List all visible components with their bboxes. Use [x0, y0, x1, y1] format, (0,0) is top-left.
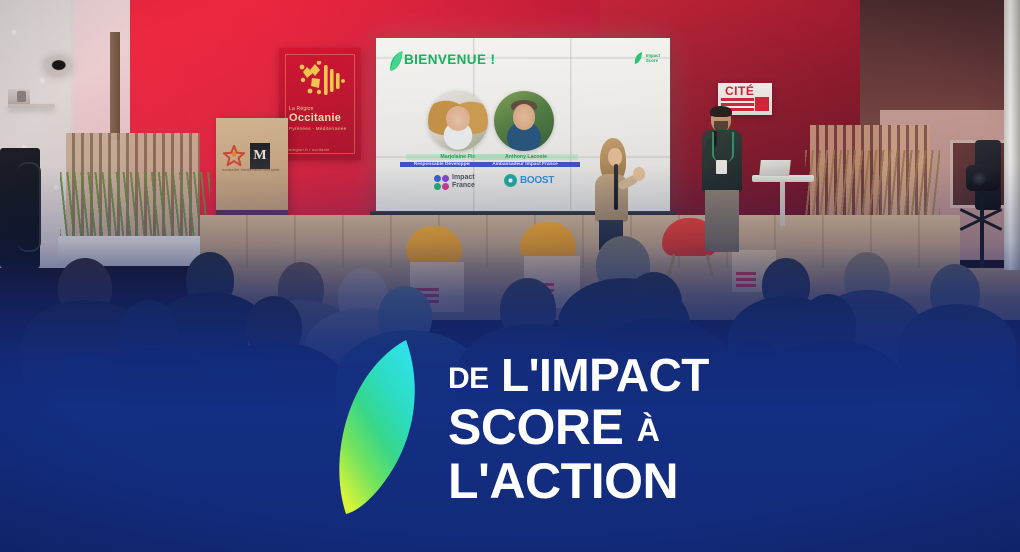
- brand-leaf-logo: [330, 338, 438, 516]
- page-title: DE L'IMPACT SCORE À L'ACTION: [448, 352, 968, 506]
- title-line-2-small: À: [637, 412, 660, 448]
- leaf-icon: [330, 338, 438, 516]
- title-line-2: SCORE À: [448, 402, 968, 452]
- title-line-1-large: L'IMPACT: [501, 349, 709, 401]
- audience-shoulders: [152, 396, 332, 552]
- title-lockup: DE L'IMPACT SCORE À L'ACTION: [330, 338, 970, 518]
- title-line-1: DE L'IMPACT: [448, 352, 968, 398]
- title-line-3: L'ACTION: [448, 456, 968, 506]
- title-line-1-small: DE: [448, 362, 489, 395]
- event-photo-canvas: La Région Occitanie Pyrénées - Méditerra…: [0, 0, 1020, 552]
- title-line-2-large: SCORE: [448, 399, 623, 455]
